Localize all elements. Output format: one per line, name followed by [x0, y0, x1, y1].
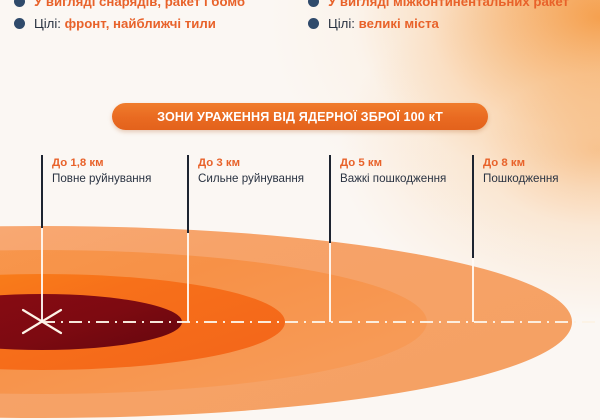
background-gradient-wash-2: [0, 0, 600, 420]
zone-description: Важкі пошкодження: [340, 171, 446, 187]
bullet-value: фронт, найближчі тили: [65, 16, 216, 31]
zone-distance: До 5 км: [340, 156, 446, 171]
zone-distance: До 8 км: [483, 156, 559, 171]
bullet-text: У вигляді снарядів, ракет і бомб: [34, 0, 290, 12]
zone-label-3: До 5 км Важкі пошкодження: [331, 156, 446, 188]
tick-stem-light-1: [41, 228, 43, 322]
bullet-label: Цілі:: [328, 16, 359, 31]
bullet-list-right: У вигляді міжконтинентальних ракет Цілі:…: [308, 0, 580, 36]
blast-zone-diagram: [0, 0, 600, 420]
tick-stem-light-3: [329, 243, 331, 322]
bullet-list-left: У вигляді снарядів, ракет і бомб Цілі: ф…: [14, 0, 290, 36]
bullet-item-left-targets: Цілі: фронт, найближчі тили: [14, 14, 290, 34]
bullet-text: У вигляді міжконтинентальних ракет: [328, 0, 580, 12]
bullet-dot-icon: [308, 18, 319, 29]
tick-stem-light-4: [472, 258, 474, 322]
bullet-item-right-targets: Цілі: великі міста: [308, 14, 580, 34]
zone-description: Повне руйнування: [52, 171, 151, 187]
bullet-value: великі міста: [359, 16, 439, 31]
blast-zone-1-ellipse: [0, 294, 182, 350]
page-title: ЗОНИ УРАЖЕННЯ ВІД ЯДЕРНОЇ ЗБРОЇ 100 кТ: [112, 103, 488, 130]
bullet-text: Цілі: фронт, найближчі тили: [34, 14, 290, 34]
bullet-item-left-delivery: У вигляді снарядів, ракет і бомб: [14, 0, 290, 12]
blast-zone-4-ellipse: [0, 226, 572, 418]
bullet-label: Цілі:: [34, 16, 65, 31]
bullet-dot-icon: [14, 18, 25, 29]
blast-zone-3-ellipse: [0, 250, 427, 394]
bullet-value: У вигляді снарядів, ракет і бомб: [34, 0, 245, 9]
zone-label-4: До 8 км Пошкодження: [474, 156, 559, 188]
zone-description: Сильне руйнування: [198, 171, 304, 187]
zone-description: Пошкодження: [483, 171, 559, 187]
bullet-value: У вигляді міжконтинентальних ракет: [328, 0, 569, 9]
bullet-item-right-delivery: У вигляді міжконтинентальних ракет: [308, 0, 580, 12]
zone-distance: До 3 км: [198, 156, 304, 171]
bullet-dot-icon: [308, 0, 319, 7]
zone-label-1: До 1,8 км Повне руйнування: [43, 156, 151, 188]
bullet-dot-icon: [14, 0, 25, 7]
zone-legend: До 1,8 км Повне руйнування До 3 км Сильн…: [0, 156, 600, 202]
zone-distance: До 1,8 км: [52, 156, 151, 171]
tick-stem-light-2: [187, 233, 189, 322]
zone-label-2: До 3 км Сильне руйнування: [189, 156, 304, 188]
bullet-text: Цілі: великі міста: [328, 14, 580, 34]
background-gradient-wash: [0, 0, 600, 420]
nuclear-blast-zones-infographic: У вигляді снарядів, ракет і бомб Цілі: ф…: [0, 0, 600, 420]
